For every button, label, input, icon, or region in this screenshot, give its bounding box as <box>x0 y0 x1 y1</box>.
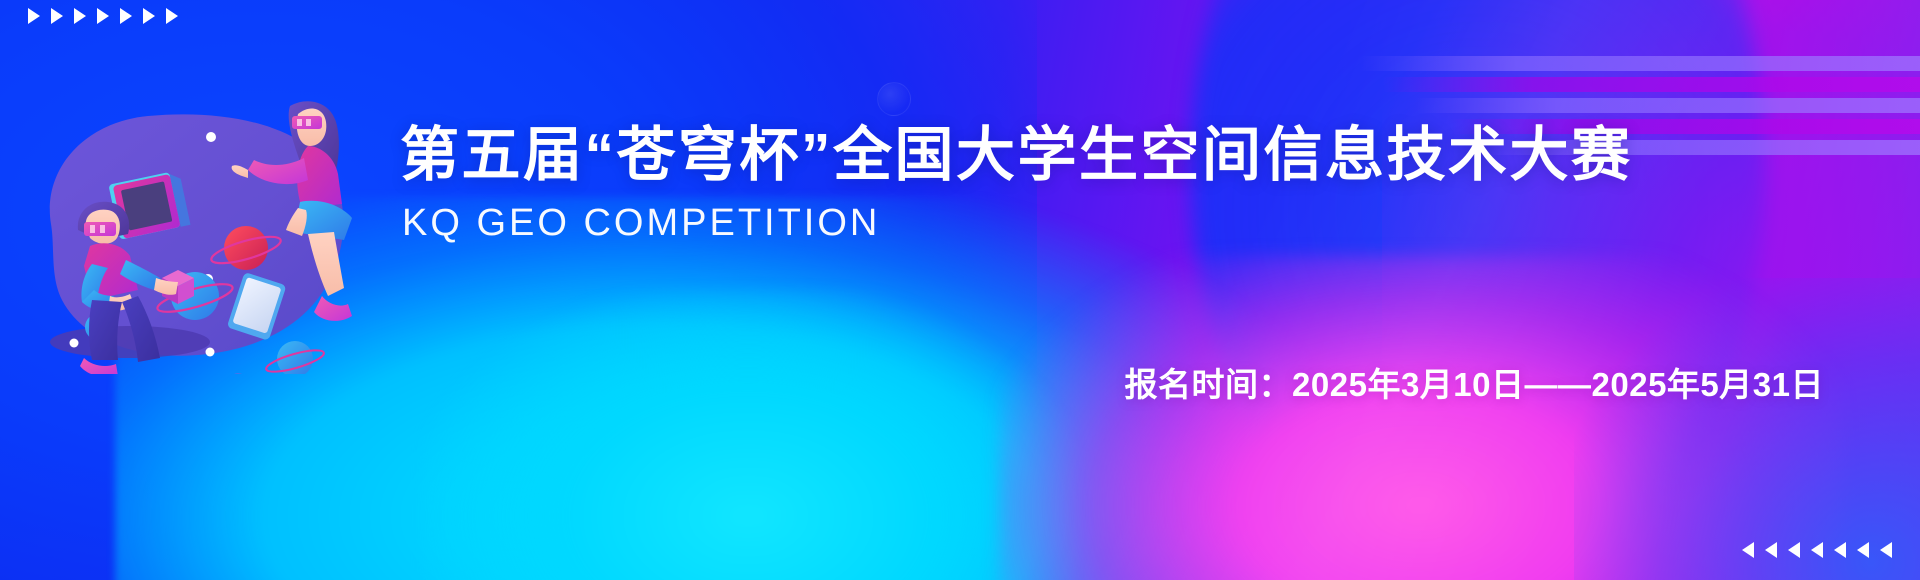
decorative-sphere <box>877 82 911 116</box>
stripe-3 <box>1416 98 1920 113</box>
triangle-right-icon <box>97 8 109 24</box>
competition-banner: 第五届“苍穹杯”全国大学生空间信息技术大赛 KQ GEO COMPETITION… <box>0 0 1920 580</box>
page-subtitle: KQ GEO COMPETITION <box>402 202 1633 245</box>
vr-space-students-illustration <box>22 74 352 374</box>
registration-period: 报名时间：2025年3月10日——2025年5月31日 <box>1125 358 1824 406</box>
triangle-left-icon <box>1880 542 1892 558</box>
triangle-left-icon <box>1788 542 1800 558</box>
stripe-2 <box>1382 77 1920 92</box>
arrow-row-bottom-right <box>1742 542 1892 558</box>
triangle-right-icon <box>166 8 178 24</box>
triangle-right-icon <box>120 8 132 24</box>
triangle-left-icon <box>1857 542 1869 558</box>
title-block: 第五届“苍穹杯”全国大学生空间信息技术大赛 KQ GEO COMPETITION <box>400 122 1633 245</box>
stripe-1 <box>1360 56 1920 71</box>
triangle-right-icon <box>143 8 155 24</box>
arrow-row-top-left <box>28 8 178 24</box>
triangle-left-icon <box>1811 542 1823 558</box>
triangle-right-icon <box>28 8 40 24</box>
page-title: 第五届“苍穹杯”全国大学生空间信息技术大赛 <box>400 122 1633 188</box>
triangle-right-icon <box>74 8 86 24</box>
triangle-left-icon <box>1742 542 1754 558</box>
triangle-right-icon <box>51 8 63 24</box>
triangle-left-icon <box>1834 542 1846 558</box>
triangle-left-icon <box>1765 542 1777 558</box>
